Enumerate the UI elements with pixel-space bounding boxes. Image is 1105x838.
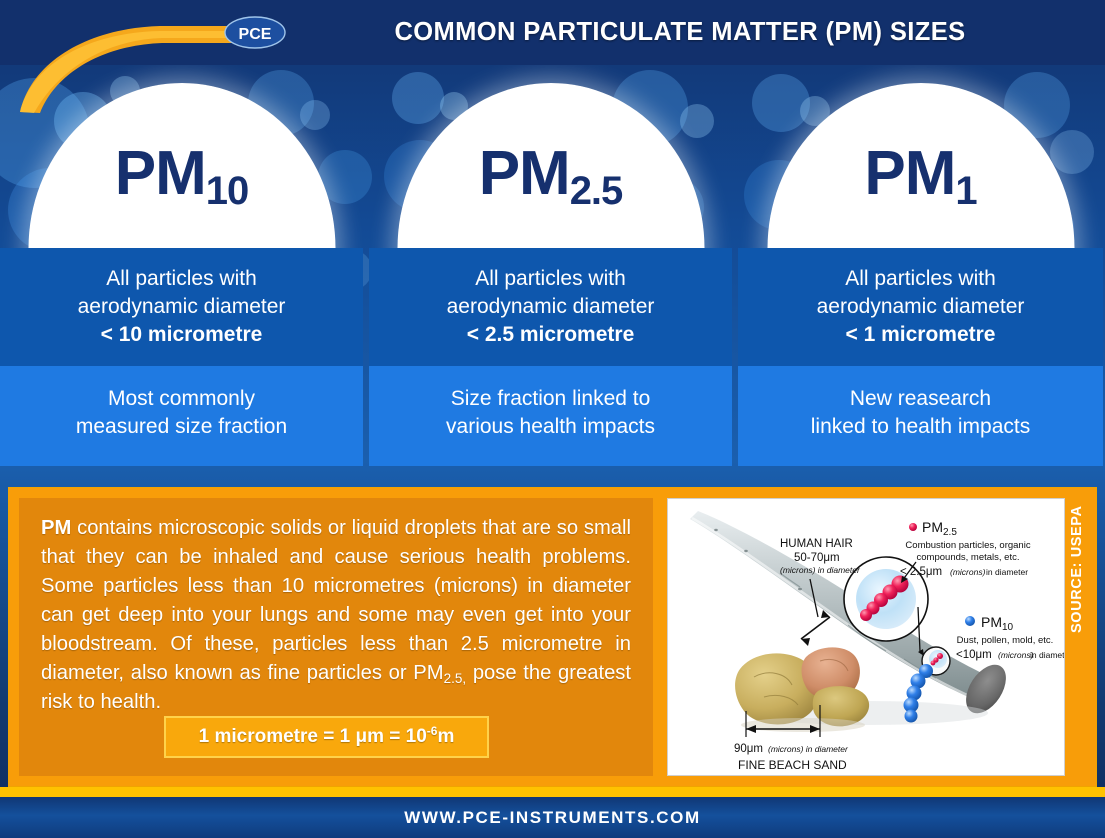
source-credit: SOURCE: USEPA [1069, 483, 1085, 633]
definition-line-1: All particles with [106, 267, 257, 290]
epa-diagram-image: HUMAN HAIR 50-70μm (microns) in diameter… [667, 498, 1065, 776]
definition-line-1: All particles with [475, 267, 626, 290]
pm-definition-pm25: All particles with aerodynamic diameter … [369, 248, 732, 366]
pm-card-dome-pm25: PM2.5 [369, 65, 732, 248]
formula-prefix: 1 micrometre = 1 μm = 10 [199, 726, 427, 748]
epa-human-hair-size: 50-70μm [794, 552, 840, 564]
pm-label-pm1: PM1 [738, 143, 1103, 205]
pm-label-main: PM [864, 139, 955, 208]
pm-label-main: PM [479, 139, 570, 208]
note-line-2: linked to health impacts [811, 415, 1030, 438]
epa-human-hair-note: (microns) in diameter [780, 565, 861, 575]
info-paragraph: PM contains microscopic solids or liquid… [41, 514, 631, 718]
pm-note-pm10: Most commonly measured size fraction [0, 366, 363, 466]
info-panel: PM contains microscopic solids or liquid… [8, 487, 1097, 787]
pm-card-pm10: PM10 All particles with aerodynamic diam… [0, 65, 363, 473]
pm-label-pm10: PM10 [0, 143, 363, 205]
epa-pm25-size: < 2.5μm [900, 566, 942, 578]
definition-line-1: All particles with [845, 267, 996, 290]
note-line-1: New reasearch [850, 387, 991, 410]
footer-bar: WWW.PCE-INSTRUMENTS.COM [0, 797, 1105, 838]
note-line-2: various health impacts [446, 415, 655, 438]
pm-label-subscript: 10 [206, 169, 249, 213]
pm-note-pm1: New reasearch linked to health impacts [738, 366, 1103, 466]
note-line-1: Size fraction linked to [451, 387, 651, 410]
epa-pm10-size-note: (microns) [998, 650, 1034, 660]
definition-line-2: aerodynamic diameter [447, 295, 655, 318]
pm-definition-pm1: All particles with aerodynamic diameter … [738, 248, 1103, 366]
footer-divider [0, 787, 1105, 797]
pm-note-pm25: Size fraction linked to various health i… [369, 366, 732, 466]
pm-label-subscript: 1 [955, 169, 976, 213]
epa-sand-size: 90μm [734, 743, 763, 755]
footer-url[interactable]: WWW.PCE-INSTRUMENTS.COM [0, 797, 1105, 838]
definition-threshold: < 10 micrometre [101, 323, 263, 346]
epa-pm10-desc: Dust, pollen, mold, etc. [957, 635, 1054, 646]
formula-suffix: m [437, 726, 454, 748]
definition-line-2: aerodynamic diameter [817, 295, 1025, 318]
epa-pm25-size-note2: in diameter [986, 567, 1028, 577]
definition-line-2: aerodynamic diameter [78, 295, 286, 318]
info-body-sub: 2.5, [444, 671, 467, 686]
epa-sand-label: FINE BEACH SAND [738, 758, 847, 772]
pm-card-pm1: PM1 All particles with aerodynamic diame… [738, 65, 1103, 473]
epa-sand-note: (microns) in diameter [768, 744, 849, 754]
pm-cards-row: PM10 All particles with aerodynamic diam… [0, 65, 1105, 475]
page-title: COMMON PARTICULATE MATTER (PM) SIZES [300, 0, 1060, 65]
definition-threshold: < 2.5 micrometre [467, 323, 635, 346]
pm-label-subscript: 2.5 [570, 169, 623, 213]
formula-box: 1 micrometre = 1 μm = 10-6 m [164, 716, 489, 758]
svg-text:PCE: PCE [239, 26, 272, 43]
pce-logo-icon[interactable]: PCE [224, 16, 286, 49]
note-line-1: Most commonly [108, 387, 255, 410]
note-line-2: measured size fraction [76, 415, 287, 438]
pm-label-main: PM [115, 139, 206, 208]
epa-diagram-svg: HUMAN HAIR 50-70μm (microns) in diameter… [668, 499, 1065, 776]
formula-exponent: -6 [427, 724, 438, 738]
definition-threshold: < 1 micrometre [845, 323, 995, 346]
info-lead: PM [41, 517, 71, 539]
epa-pm10-size: <10μm [956, 649, 992, 661]
pm-label-pm25: PM2.5 [369, 143, 732, 205]
epa-pm25-size-note: (microns) [950, 567, 986, 577]
pm-definition-pm10: All particles with aerodynamic diameter … [0, 248, 363, 366]
epa-pm10-size-note2: in diameter [1030, 650, 1065, 660]
epa-human-hair-label: HUMAN HAIR [780, 538, 853, 550]
pm-card-pm25: PM2.5 All particles with aerodynamic dia… [369, 65, 732, 473]
infographic-page: COMMON PARTICULATE MATTER (PM) SIZES PCE… [0, 0, 1105, 838]
pm-card-dome-pm1: PM1 [738, 65, 1103, 248]
epa-pm25-desc-1: Combustion particles, organic [905, 540, 1030, 551]
info-body: contains microscopic solids or liquid dr… [41, 517, 631, 684]
epa-pm25-desc-2: compounds, metals, etc. [917, 552, 1020, 563]
